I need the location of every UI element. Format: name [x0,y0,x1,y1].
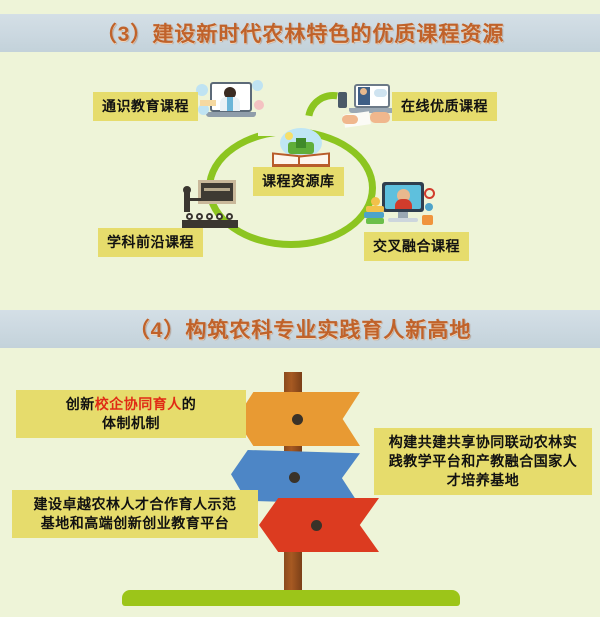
ground-grass [122,590,460,606]
section3-header-bar: （3）建设新时代农林特色的优质课程资源 [0,14,600,52]
chip-course-resource-center[interactable]: 课程资源库 [253,167,344,196]
desktop-study-icon [362,182,438,238]
chip-frontier-course[interactable]: 学科前沿课程 [98,228,203,257]
callout-practice-platform[interactable]: 构建共建共享协同联动农林实 践教学平台和产教融合国家人 才培养基地 [374,428,592,495]
section4-header-title: （4）构筑农科专业实践育人新高地 [129,314,472,344]
callout-line-1: 构建共建共享协同联动农林实 [389,434,578,450]
teacher-laptop-icon [196,78,266,126]
chip-interdisciplinary[interactable]: 交叉融合课程 [364,232,469,261]
orange-sign[interactable] [236,392,360,446]
callout-line-1: 建设卓越农林人才合作育人示范 [34,496,237,512]
chip-general-education[interactable]: 通识教育课程 [93,92,198,121]
callout-line-2: 践教学平台和产教融合国家人 [389,453,578,469]
callout-school-enterprise[interactable]: 创新校企协同育人的 体制机制 [16,390,246,438]
online-laptop-icon [336,84,398,132]
callout-line-3: 才培养基地 [447,472,520,488]
chip-online-quality[interactable]: 在线优质课程 [392,92,497,121]
red-sign[interactable] [259,498,379,552]
callout-line-2: 体制机制 [102,415,160,431]
section4-header-bar: （4）构筑农科专业实践育人新高地 [0,310,600,348]
open-book-landscape-icon [272,128,330,170]
callout-demonstration-base[interactable]: 建设卓越农林人才合作育人示范 基地和高端创新创业教育平台 [12,490,258,538]
callout-line-1: 创新校企协同育人的 [66,396,197,412]
section3-header-title: （3）建设新时代农林特色的优质课程资源 [96,18,505,48]
callout-line-2: 基地和高端创新创业教育平台 [41,515,230,531]
lecture-blackboard-icon [176,180,240,230]
